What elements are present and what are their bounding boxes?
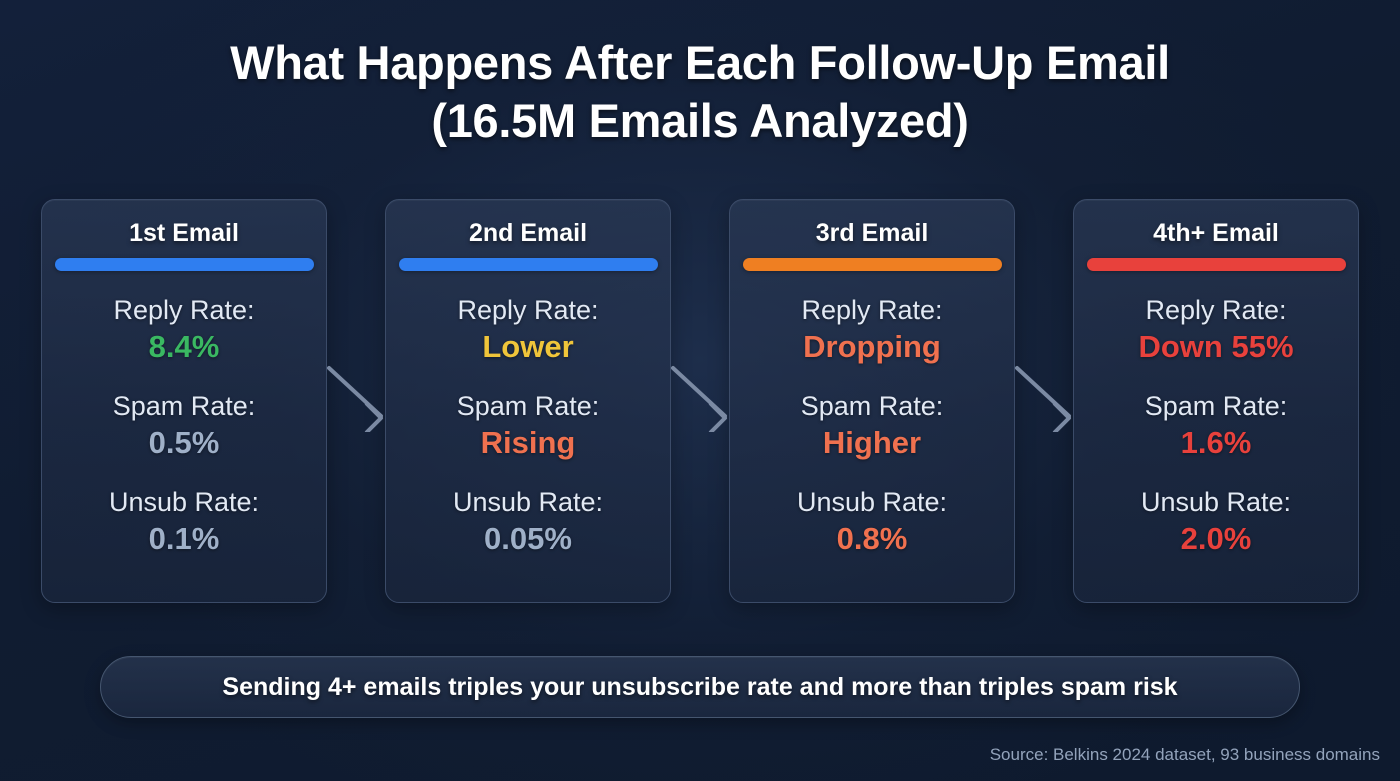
card-metrics: Reply Rate:8.4%Spam Rate:0.5%Unsub Rate:… — [58, 293, 310, 559]
metric-row: Spam Rate:Rising — [402, 389, 654, 463]
metric-label: Reply Rate: — [58, 293, 310, 327]
title-line-2: (16.5M Emails Analyzed) — [0, 92, 1400, 150]
infographic-root: What Happens After Each Follow-Up Email … — [0, 0, 1400, 781]
metric-row: Spam Rate:Higher — [746, 389, 998, 463]
email-stage-cards: 1st EmailReply Rate:8.4%Spam Rate:0.5%Un… — [41, 199, 1359, 603]
metric-row: Reply Rate:Dropping — [746, 293, 998, 367]
card-accent-bar — [743, 258, 1002, 271]
metric-label: Reply Rate: — [1090, 293, 1342, 327]
metric-row: Reply Rate:Down 55% — [1090, 293, 1342, 367]
metric-label: Spam Rate: — [58, 389, 310, 423]
key-insight-banner: Sending 4+ emails triples your unsubscri… — [100, 656, 1300, 718]
metric-row: Unsub Rate:0.05% — [402, 485, 654, 559]
metric-value: 0.5% — [58, 423, 310, 463]
email-card-2: 2nd EmailReply Rate:LowerSpam Rate:Risin… — [385, 199, 671, 603]
metric-row: Reply Rate:8.4% — [58, 293, 310, 367]
metric-value: 2.0% — [1090, 519, 1342, 559]
metric-label: Unsub Rate: — [1090, 485, 1342, 519]
metric-label: Spam Rate: — [1090, 389, 1342, 423]
metric-value: Lower — [402, 327, 654, 367]
metric-value: 0.8% — [746, 519, 998, 559]
metric-value: 0.1% — [58, 519, 310, 559]
card-title: 3rd Email — [816, 218, 929, 248]
card-title: 1st Email — [129, 218, 239, 248]
page-title: What Happens After Each Follow-Up Email … — [0, 34, 1400, 150]
card-accent-bar — [399, 258, 658, 271]
metric-label: Spam Rate: — [746, 389, 998, 423]
metric-value: Rising — [402, 423, 654, 463]
metric-row: Spam Rate:0.5% — [58, 389, 310, 463]
metric-label: Reply Rate: — [402, 293, 654, 327]
metric-row: Spam Rate:1.6% — [1090, 389, 1342, 463]
source-note: Source: Belkins 2024 dataset, 93 busines… — [990, 744, 1380, 766]
metric-label: Reply Rate: — [746, 293, 998, 327]
email-card-4: 4th+ EmailReply Rate:Down 55%Spam Rate:1… — [1073, 199, 1359, 603]
metric-value: Dropping — [746, 327, 998, 367]
metric-row: Unsub Rate:2.0% — [1090, 485, 1342, 559]
metric-value: 8.4% — [58, 327, 310, 367]
card-accent-bar — [55, 258, 314, 271]
metric-value: Down 55% — [1090, 327, 1342, 367]
metric-value: 0.05% — [402, 519, 654, 559]
metric-label: Spam Rate: — [402, 389, 654, 423]
title-line-1: What Happens After Each Follow-Up Email — [0, 34, 1400, 92]
metric-label: Unsub Rate: — [402, 485, 654, 519]
card-metrics: Reply Rate:Down 55%Spam Rate:1.6%Unsub R… — [1090, 293, 1342, 559]
metric-row: Reply Rate:Lower — [402, 293, 654, 367]
metric-row: Unsub Rate:0.8% — [746, 485, 998, 559]
card-metrics: Reply Rate:DroppingSpam Rate:HigherUnsub… — [746, 293, 998, 559]
key-insight-text: Sending 4+ emails triples your unsubscri… — [222, 672, 1177, 702]
metric-value: 1.6% — [1090, 423, 1342, 463]
metric-row: Unsub Rate:0.1% — [58, 485, 310, 559]
email-card-3: 3rd EmailReply Rate:DroppingSpam Rate:Hi… — [729, 199, 1015, 603]
metric-label: Unsub Rate: — [58, 485, 310, 519]
card-metrics: Reply Rate:LowerSpam Rate:RisingUnsub Ra… — [402, 293, 654, 559]
metric-label: Unsub Rate: — [746, 485, 998, 519]
card-title: 4th+ Email — [1153, 218, 1279, 248]
card-title: 2nd Email — [469, 218, 587, 248]
card-accent-bar — [1087, 258, 1346, 271]
email-card-1: 1st EmailReply Rate:8.4%Spam Rate:0.5%Un… — [41, 199, 327, 603]
metric-value: Higher — [746, 423, 998, 463]
